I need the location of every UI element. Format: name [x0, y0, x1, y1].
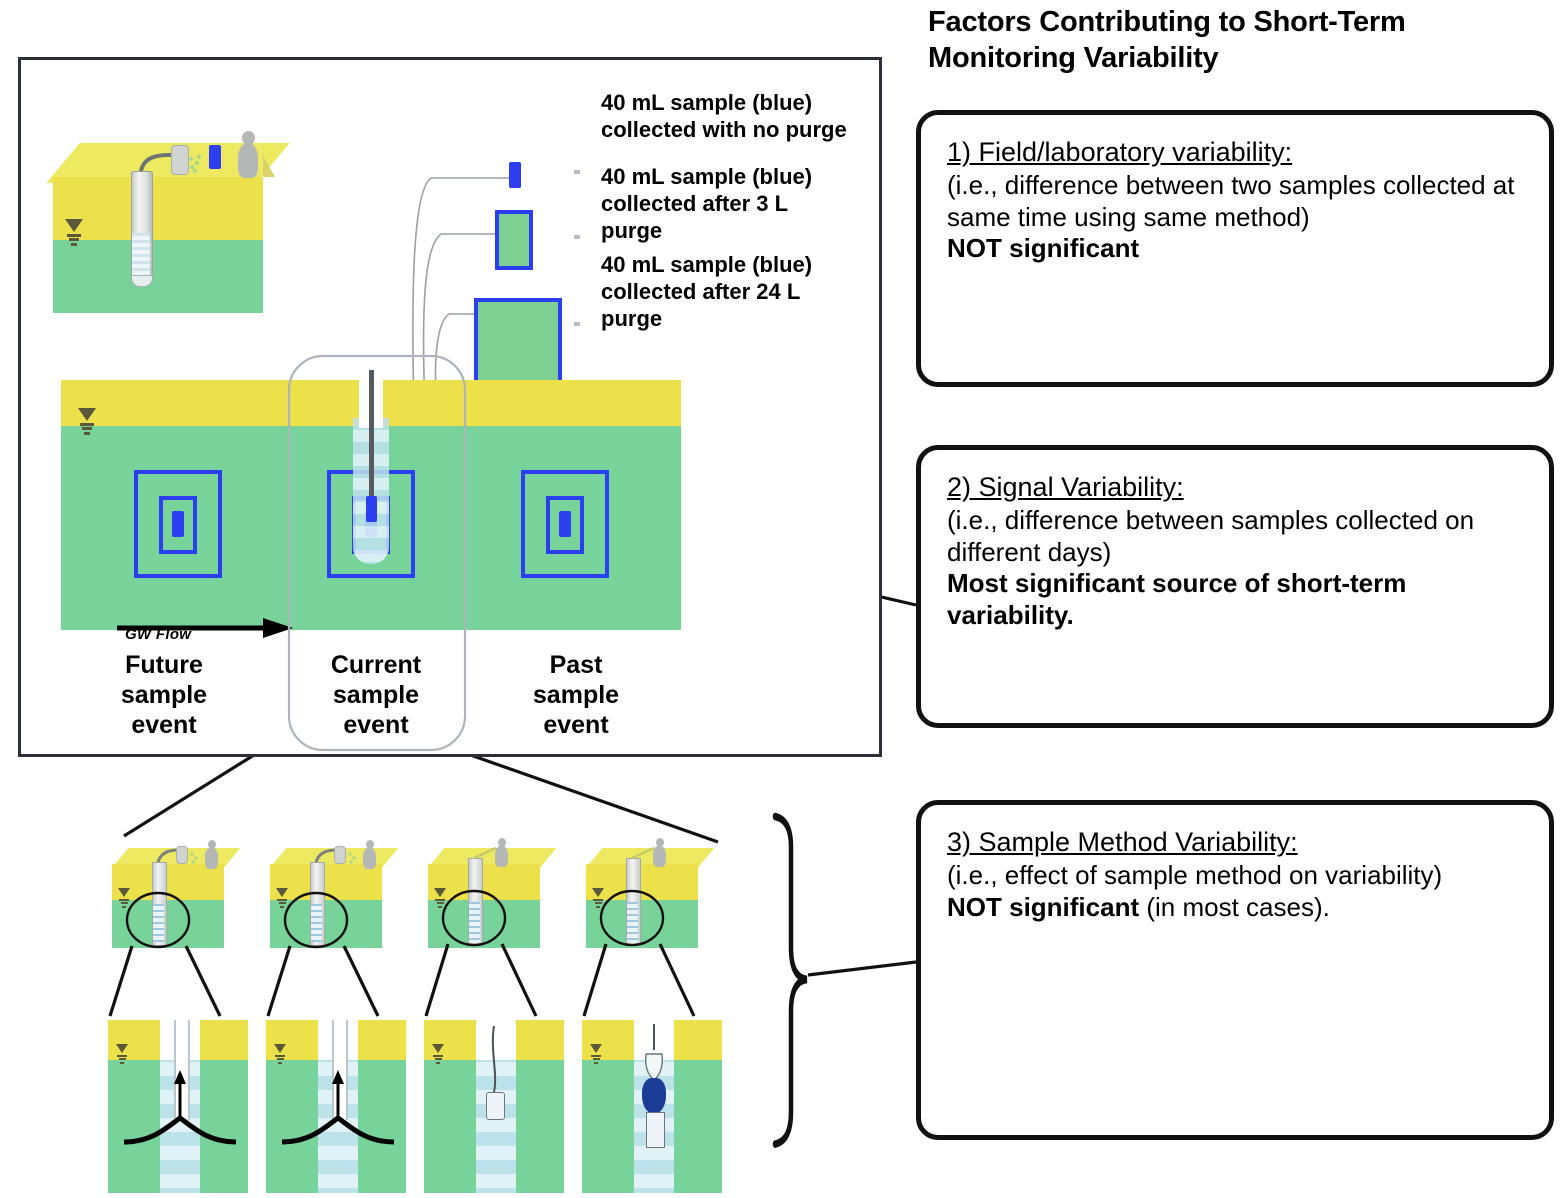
well-detail-diagram [424, 1020, 564, 1193]
column-label-future: Future sample event [99, 650, 229, 740]
method-panel-low-flow-purge-pump-alt [266, 838, 406, 1193]
block-diagram [266, 838, 406, 968]
zoom-callout-lines [424, 964, 564, 1024]
column-label-current: Current sample event [311, 650, 441, 740]
well-detail-diagram [582, 1020, 722, 1193]
method-panel-row [108, 838, 748, 1193]
well-detail-diagram [108, 1020, 248, 1193]
zoom-callout-lines [266, 964, 406, 1024]
flow-arrow-icon [266, 1020, 406, 1193]
connector-to-box-3 [808, 962, 916, 975]
discharge-droplets [266, 838, 406, 968]
field-technician-icon [362, 840, 378, 870]
bailer-body-icon [646, 1112, 665, 1148]
method-panel-passive-diffusion-sampler [424, 838, 564, 1193]
method-panel-low-flow-purge-pump [108, 838, 248, 1193]
well-detail-diagram [266, 1020, 406, 1193]
field-technician-icon [204, 840, 220, 870]
zoom-callout-lines [582, 964, 722, 1024]
column-label-past: Past sample event [511, 650, 641, 740]
discharge-droplets [108, 838, 248, 968]
field-technician-icon [494, 838, 510, 868]
cross-section-panel: 40 mL sample (blue) collected with no pu… [18, 57, 882, 757]
passive-diffusion-sampler-icon [486, 1092, 505, 1120]
zoom-callout-lines [108, 964, 248, 1024]
block-diagram [108, 838, 248, 968]
field-technician-icon [652, 838, 668, 868]
bailer-sample-icon [642, 1078, 666, 1114]
brace-sample-method-variability [775, 816, 807, 1144]
flow-arrow-icon [108, 1020, 248, 1193]
method-panel-bailer-grab-sample [582, 838, 722, 1193]
